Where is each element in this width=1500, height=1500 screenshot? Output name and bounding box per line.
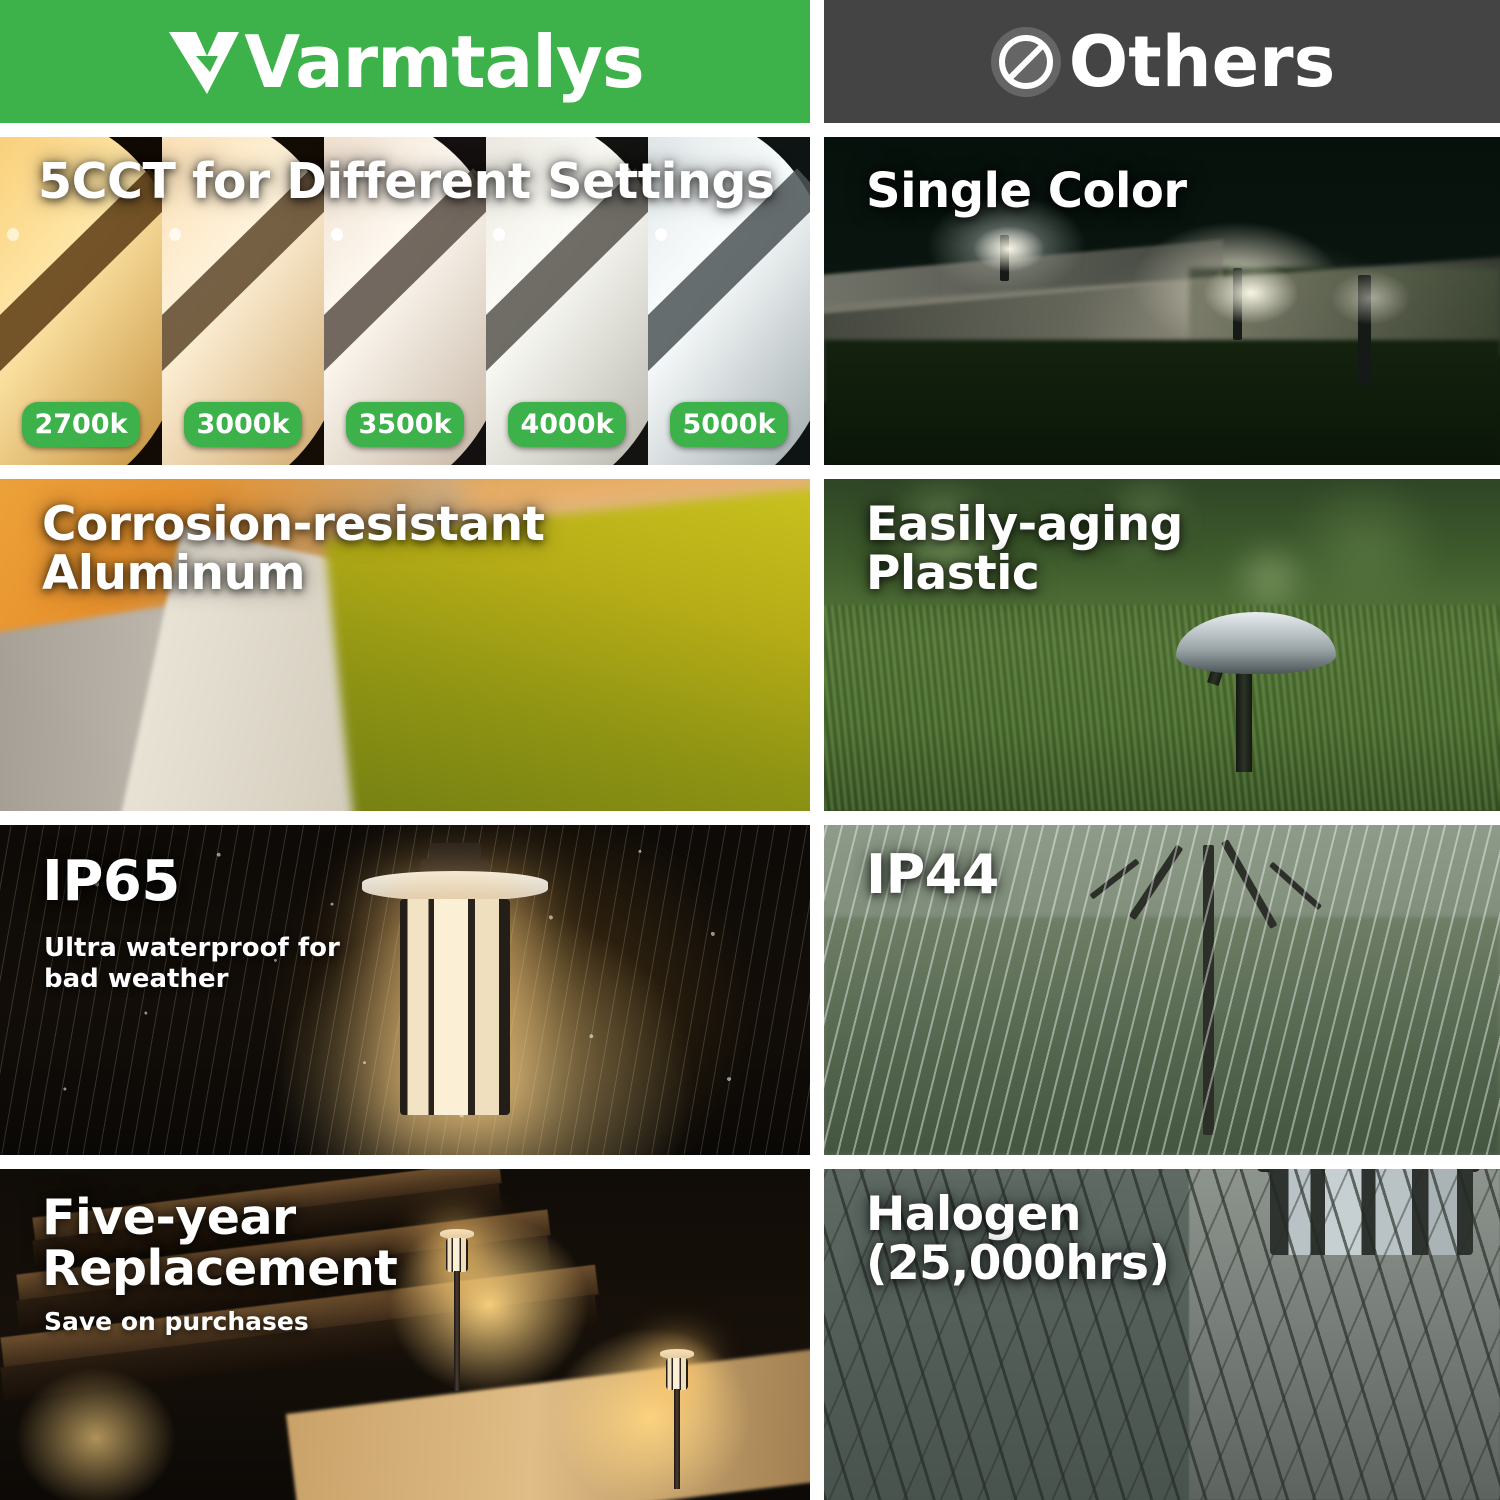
cct-badge: 3000k [184,402,302,447]
others-label: Others [1069,27,1335,97]
stair-lamp-2 [660,1349,694,1499]
col-gutter [810,825,824,1155]
panel-ip44: IP44 [824,825,1500,1155]
cct-badge: 2700k [22,402,140,447]
cct-badge: 4000k [508,402,626,447]
panel-title-plastic: Easily-aging Plastic [866,501,1183,599]
row-gutter-1 [0,123,1500,137]
panel-title-five-year-line2: Replacement [42,1244,397,1295]
panel-sub-ip65-line2: bad weather [44,964,340,995]
panel-title-plastic-line1: Easily-aging [866,501,1183,550]
panel-ip65: IP65 Ultra waterproof for bad weather [0,825,810,1155]
panel-title-halogen-line2: (25,000hrs) [866,1240,1169,1289]
panel-title-halogen: Halogen (25,000hrs) [866,1191,1169,1289]
panel-plastic: Easily-aging Plastic [824,479,1500,811]
panel-title-ip65: IP65 [42,853,180,911]
col-gutter [810,137,824,465]
brand-header-varmtalys: Varmtalys [0,0,810,123]
header-gutter [810,0,824,123]
panel-title-aluminum: Corrosion-resistant Aluminum [42,501,545,599]
prohibition-no-sign-icon [989,25,1063,99]
panel-sub-ip65: Ultra waterproof for bad weather [44,933,340,994]
comparison-infographic: Varmtalys Others [0,0,1500,1500]
others-header: Others [824,0,1500,123]
panel-sub-ip65-line1: Ultra waterproof for [44,933,340,964]
panel-five-year-replacement: Five-year Replacement Save on purchases [0,1169,810,1500]
panel-title-ip44: IP44 [866,847,999,903]
row-gutter-2 [0,465,1500,479]
varmtalys-v-logo-icon [166,26,242,98]
panel-title-five-year-line1: Five-year [42,1193,397,1244]
panel-sub-five-year: Save on purchases [44,1307,309,1337]
panel-title-aluminum-line2: Aluminum [42,550,545,599]
stair-lamp-1 [440,1229,474,1409]
panel-title-5cct: 5CCT for Different Settings [38,157,775,208]
brand-name: Varmtalys [244,26,643,98]
panel-title-plastic-line2: Plastic [866,550,1183,599]
panel-title-aluminum-line1: Corrosion-resistant [42,501,545,550]
col-gutter [810,479,824,811]
col-gutter [810,1169,824,1500]
panel-title-five-year: Five-year Replacement [42,1193,397,1295]
panel-title-single-color: Single Color [866,167,1187,217]
cct-badge: 5000k [670,402,788,447]
row-gutter-3 [0,811,1500,825]
panel-title-halogen-line1: Halogen [866,1191,1169,1240]
pathway-lamp-rain [360,843,550,1143]
varmtalys-logo: Varmtalys [166,26,643,98]
cct-badge: 3500k [346,402,464,447]
panel-single-color: Single Color [824,137,1500,465]
panel-5cct: 2700k 3000k [0,137,810,465]
panel-aluminum: Corrosion-resistant Aluminum [0,479,810,811]
row-gutter-4 [0,1155,1500,1169]
panel-halogen: Halogen (25,000hrs) [824,1169,1500,1500]
